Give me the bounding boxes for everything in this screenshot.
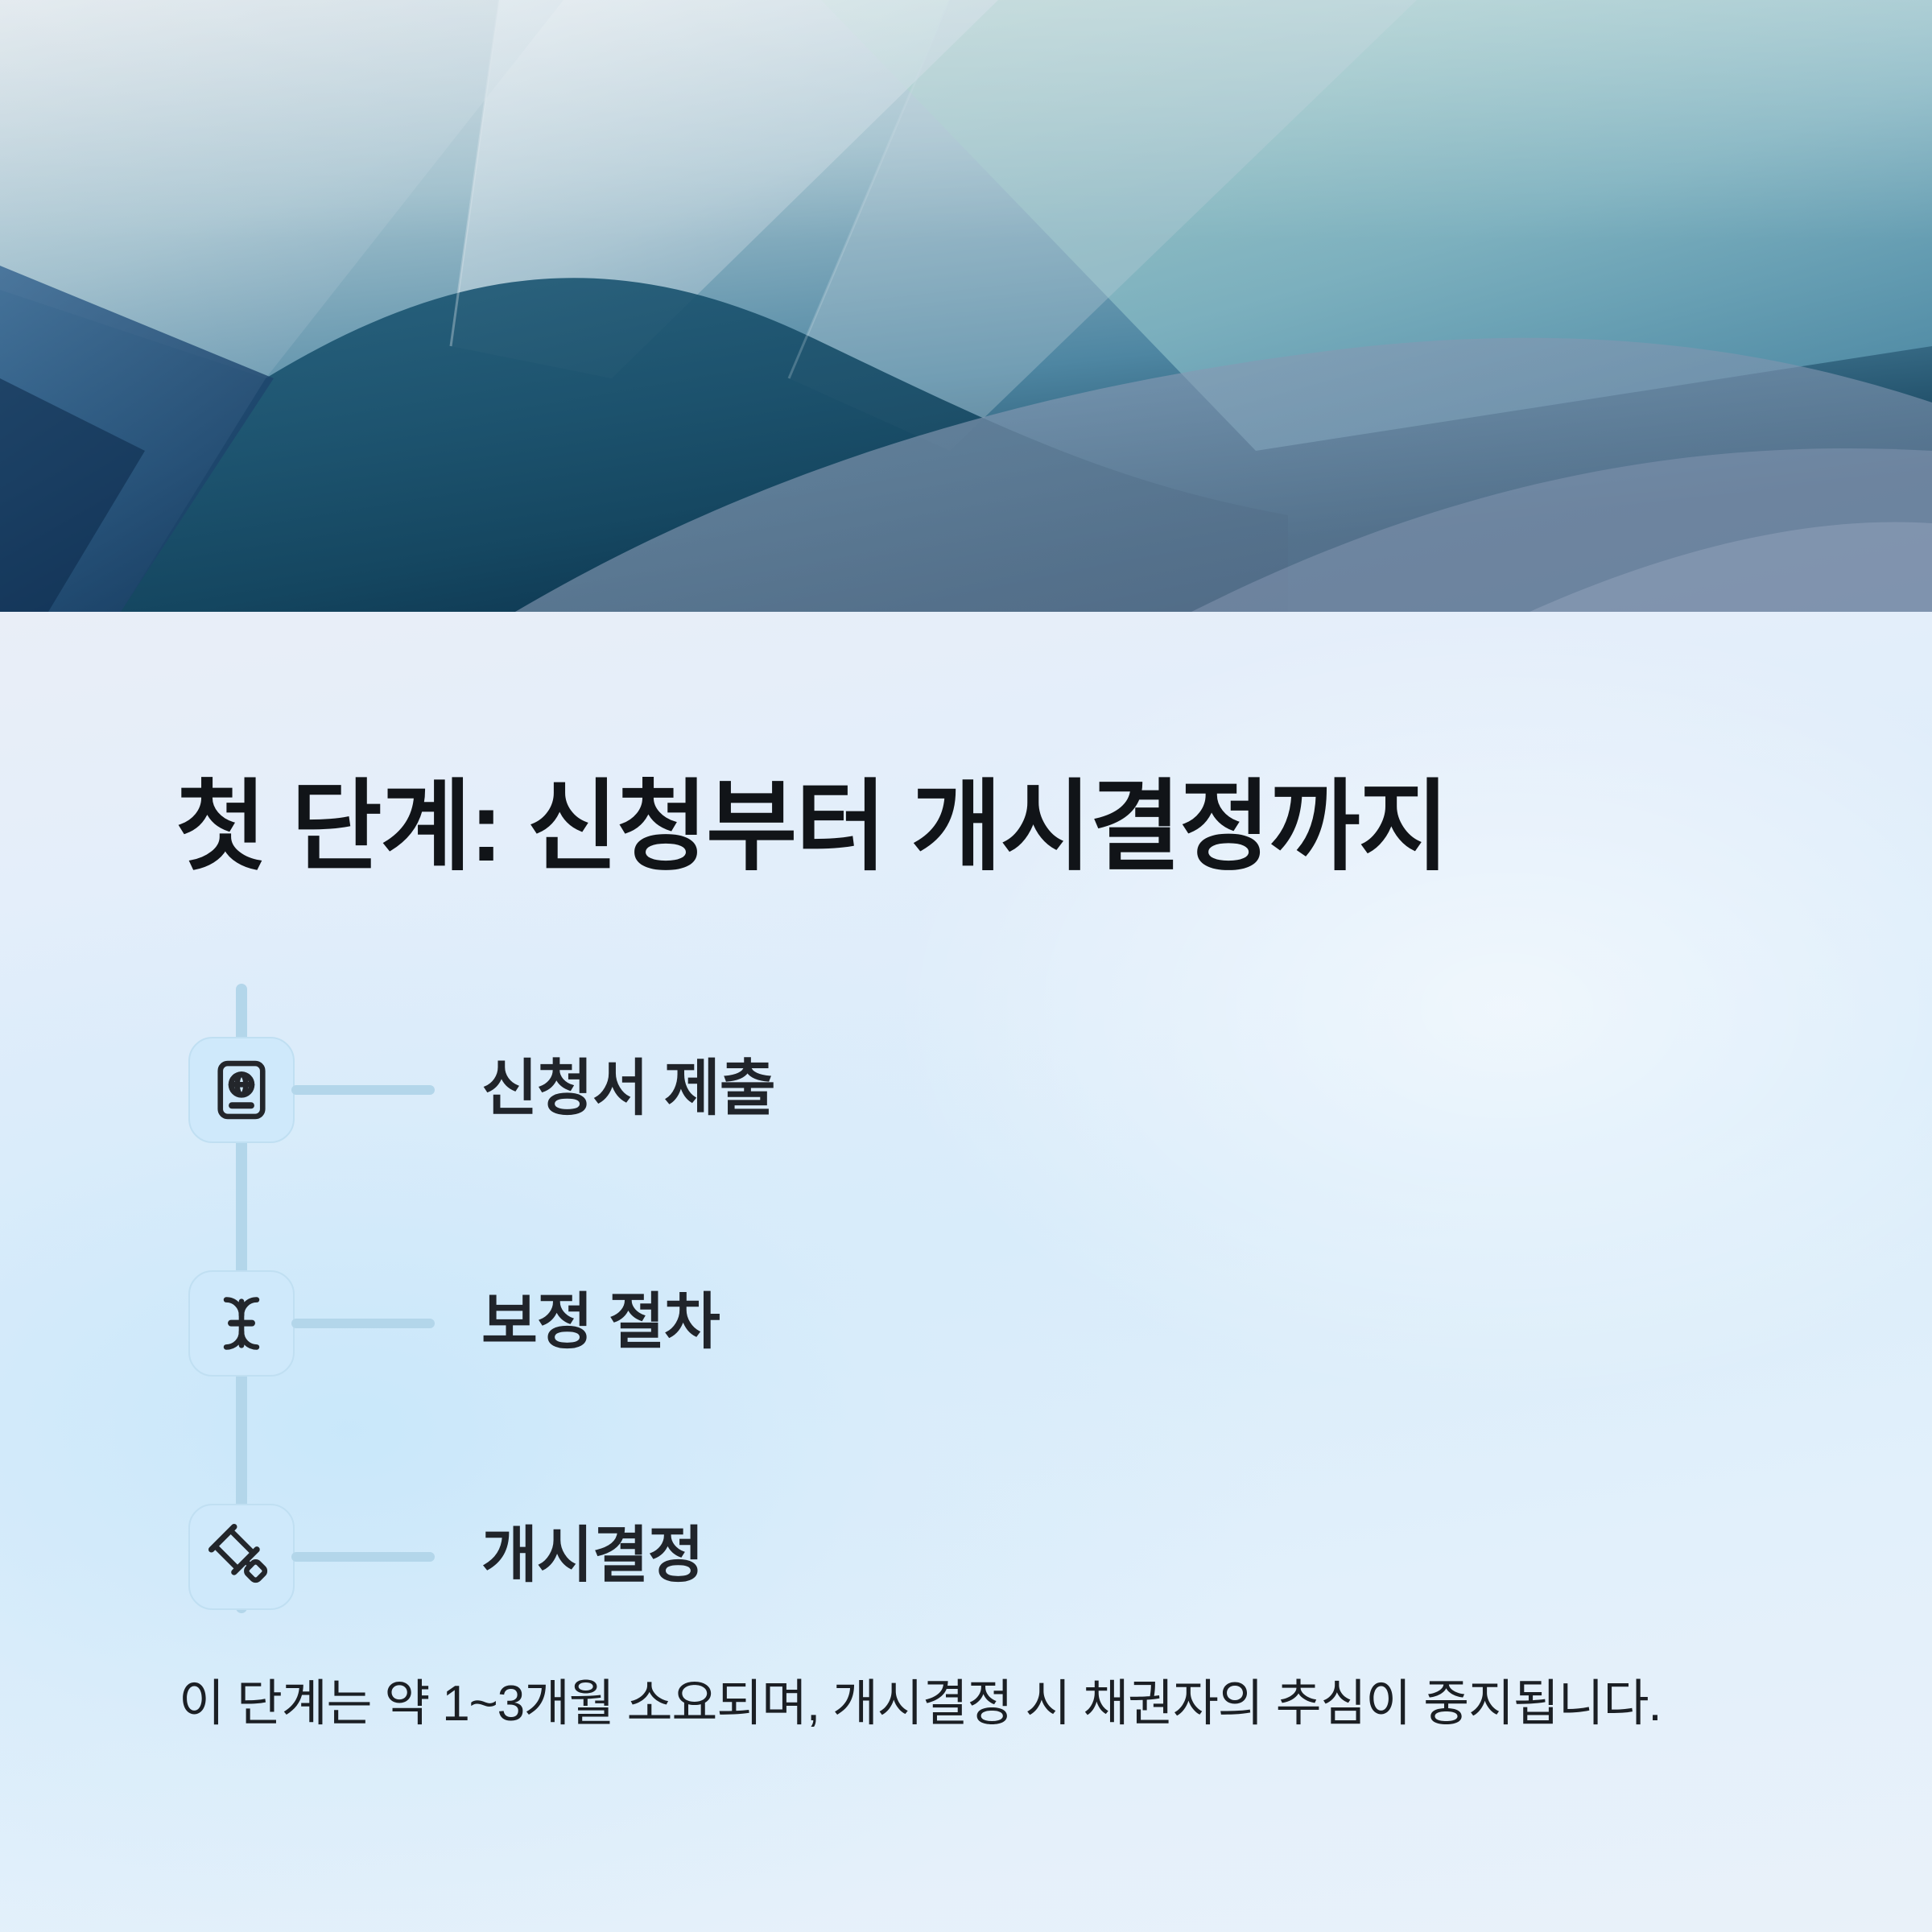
timeline: 신청서 제출 보정 절차 bbox=[0, 0, 1932, 1932]
timeline-connector bbox=[291, 1319, 435, 1328]
timeline-step-label: 신청서 제출 bbox=[481, 1048, 775, 1131]
timeline-step-label: 개시결정 bbox=[481, 1515, 704, 1598]
timeline-step-label: 보정 절차 bbox=[481, 1282, 720, 1364]
passport-icon bbox=[188, 1037, 295, 1143]
infographic-card: 첫 단계: 신청부터 개시결정까지 신청서 제출 bbox=[0, 0, 1932, 1932]
footer-note: 이 단계는 약 1~3개월 소요되며, 개시결정 시 채권자의 추심이 중지됩니… bbox=[179, 1670, 1789, 1740]
timeline-connector bbox=[291, 1085, 435, 1095]
text-cursor-icon bbox=[188, 1270, 295, 1377]
timeline-connector bbox=[291, 1552, 435, 1562]
gavel-icon bbox=[188, 1504, 295, 1610]
